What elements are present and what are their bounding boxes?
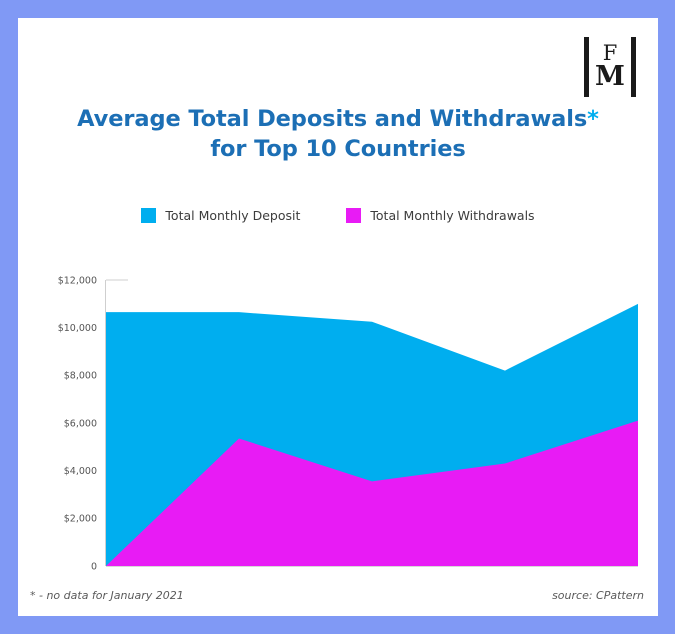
source-text: source: CPattern — [552, 589, 644, 602]
y-axis-tick-label: $2,000 — [64, 514, 97, 525]
infographic-card: F M Average Total Deposits and Withdrawa… — [0, 0, 675, 634]
legend-label-deposit: Total Monthly Deposit — [165, 208, 300, 223]
chart-title-asterisk: * — [587, 106, 599, 132]
footnote-text: * - no data for January 2021 — [30, 589, 184, 602]
logo-letters: F M — [595, 44, 625, 89]
legend-swatch-deposit — [141, 208, 156, 223]
legend-swatch-withdrawals — [346, 208, 361, 223]
logo-right-bar-icon — [631, 37, 636, 97]
infographic-inner: F M Average Total Deposits and Withdrawa… — [18, 18, 658, 616]
y-axis-tick-label: $10,000 — [58, 323, 97, 334]
series-areas — [106, 304, 638, 566]
y-axis-tick-label: $6,000 — [64, 418, 97, 429]
chart-legend: Total Monthly Deposit Total Monthly With… — [18, 208, 658, 223]
chart-footer: * - no data for January 2021 source: CPa… — [30, 589, 644, 602]
logo-left-bar-icon — [584, 37, 589, 97]
logo-letter-m: M — [595, 65, 625, 90]
finance-magnates-logo: F M — [584, 37, 636, 97]
legend-label-withdrawals: Total Monthly Withdrawals — [370, 208, 534, 223]
chart-title-line-1: Average Total Deposits and Withdrawals — [77, 106, 587, 132]
y-axis-tick-label: $12,000 — [58, 275, 97, 286]
y-axis-tick-labels: 0$2,000$4,000$6,000$8,000$10,000$12,000 — [58, 275, 97, 572]
chart-title: Average Total Deposits and Withdrawals* … — [18, 104, 658, 165]
legend-item-withdrawals[interactable]: Total Monthly Withdrawals — [346, 208, 534, 223]
chart-title-line-2: for Top 10 Countries — [210, 136, 465, 162]
y-axis-tick-label: $8,000 — [64, 371, 97, 382]
area-chart-svg: 0$2,000$4,000$6,000$8,000$10,000$12,000 — [18, 253, 657, 583]
y-axis-tick-label: 0 — [91, 561, 97, 572]
y-axis-tick-label: $4,000 — [64, 466, 97, 477]
area-chart: 0$2,000$4,000$6,000$8,000$10,000$12,000 — [18, 253, 657, 583]
legend-item-deposit[interactable]: Total Monthly Deposit — [141, 208, 300, 223]
